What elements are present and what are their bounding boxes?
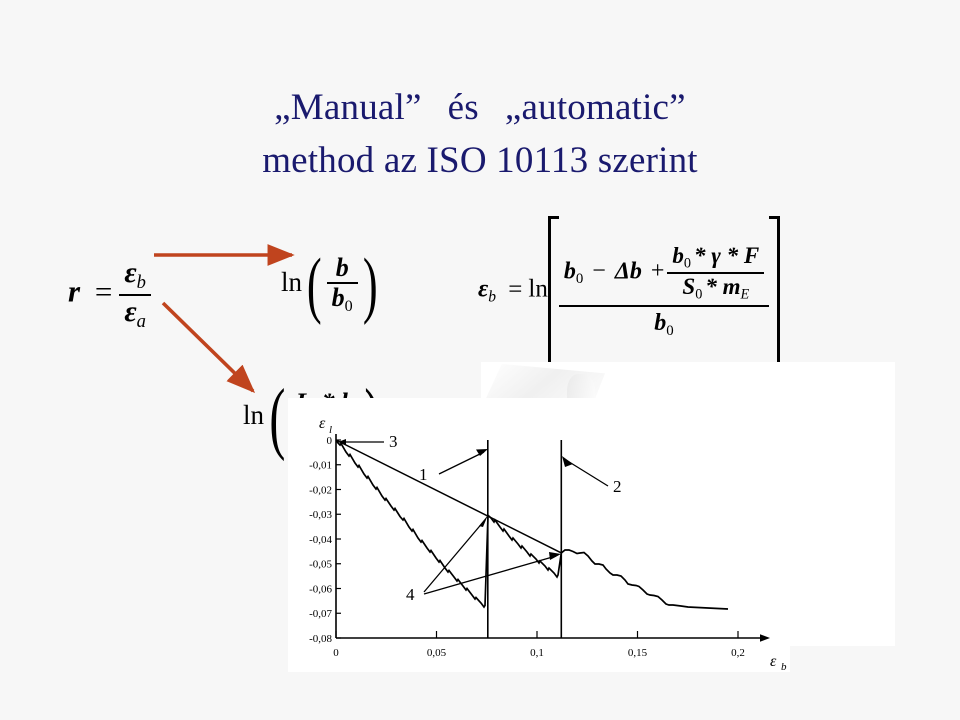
- x-tick-label: 0,05: [427, 647, 447, 659]
- chart-axes: [336, 434, 770, 642]
- y-tick-label: -0,07: [309, 608, 332, 620]
- x-tick-label: 0,2: [731, 647, 745, 659]
- callout-label-4: 4: [406, 585, 415, 604]
- chart-callout-2: 2: [562, 456, 622, 496]
- callout-label-2: 2: [613, 477, 622, 496]
- x-tick-label: 0,1: [530, 647, 544, 659]
- chart-axis-titles: ε l ε b: [319, 415, 787, 672]
- y-tick-label: -0,03: [309, 509, 332, 521]
- x-axis-label: ε: [770, 653, 777, 670]
- chart-y-ticklabels: 0 -0,01 -0,02 -0,03 -0,04 -0,05 -0,06 -0…: [309, 435, 332, 645]
- chart-vertical-lines: [488, 440, 562, 638]
- y-tick-label: -0,04: [309, 534, 332, 546]
- chart-x-ticks: [336, 631, 738, 638]
- y-tick-label: -0,06: [309, 584, 332, 596]
- y-axis-label-sub: l: [329, 424, 332, 436]
- chart-callout-1: 1: [419, 449, 488, 484]
- y-tick-label: -0,05: [309, 559, 332, 571]
- x-tick-label: 0: [333, 647, 339, 659]
- x-tick-label: 0,15: [628, 647, 648, 659]
- chart-x-ticklabels: 0 0,05 0,1 0,15 0,2: [333, 647, 745, 659]
- measured-strain-curve: [336, 440, 728, 609]
- callout-label-1: 1: [419, 465, 428, 484]
- chart-callout-3: 3: [338, 432, 398, 451]
- y-axis-label: ε: [319, 415, 326, 432]
- x-axis-label-sub: b: [781, 661, 787, 672]
- y-tick-label: -0,08: [309, 633, 332, 645]
- slide-canvas: „Manual”és„automatic” method az ISO 1011…: [0, 0, 960, 720]
- y-tick-label: -0,02: [309, 485, 332, 497]
- strain-chart: 0 -0,01 -0,02 -0,03 -0,04 -0,05 -0,06 -0…: [288, 398, 790, 672]
- y-tick-label: 0: [327, 435, 333, 447]
- y-tick-label: -0,01: [309, 460, 332, 472]
- chart-callout-4: 4: [406, 515, 561, 604]
- callout-label-3: 3: [389, 432, 398, 451]
- straight-reference-line: [336, 440, 561, 553]
